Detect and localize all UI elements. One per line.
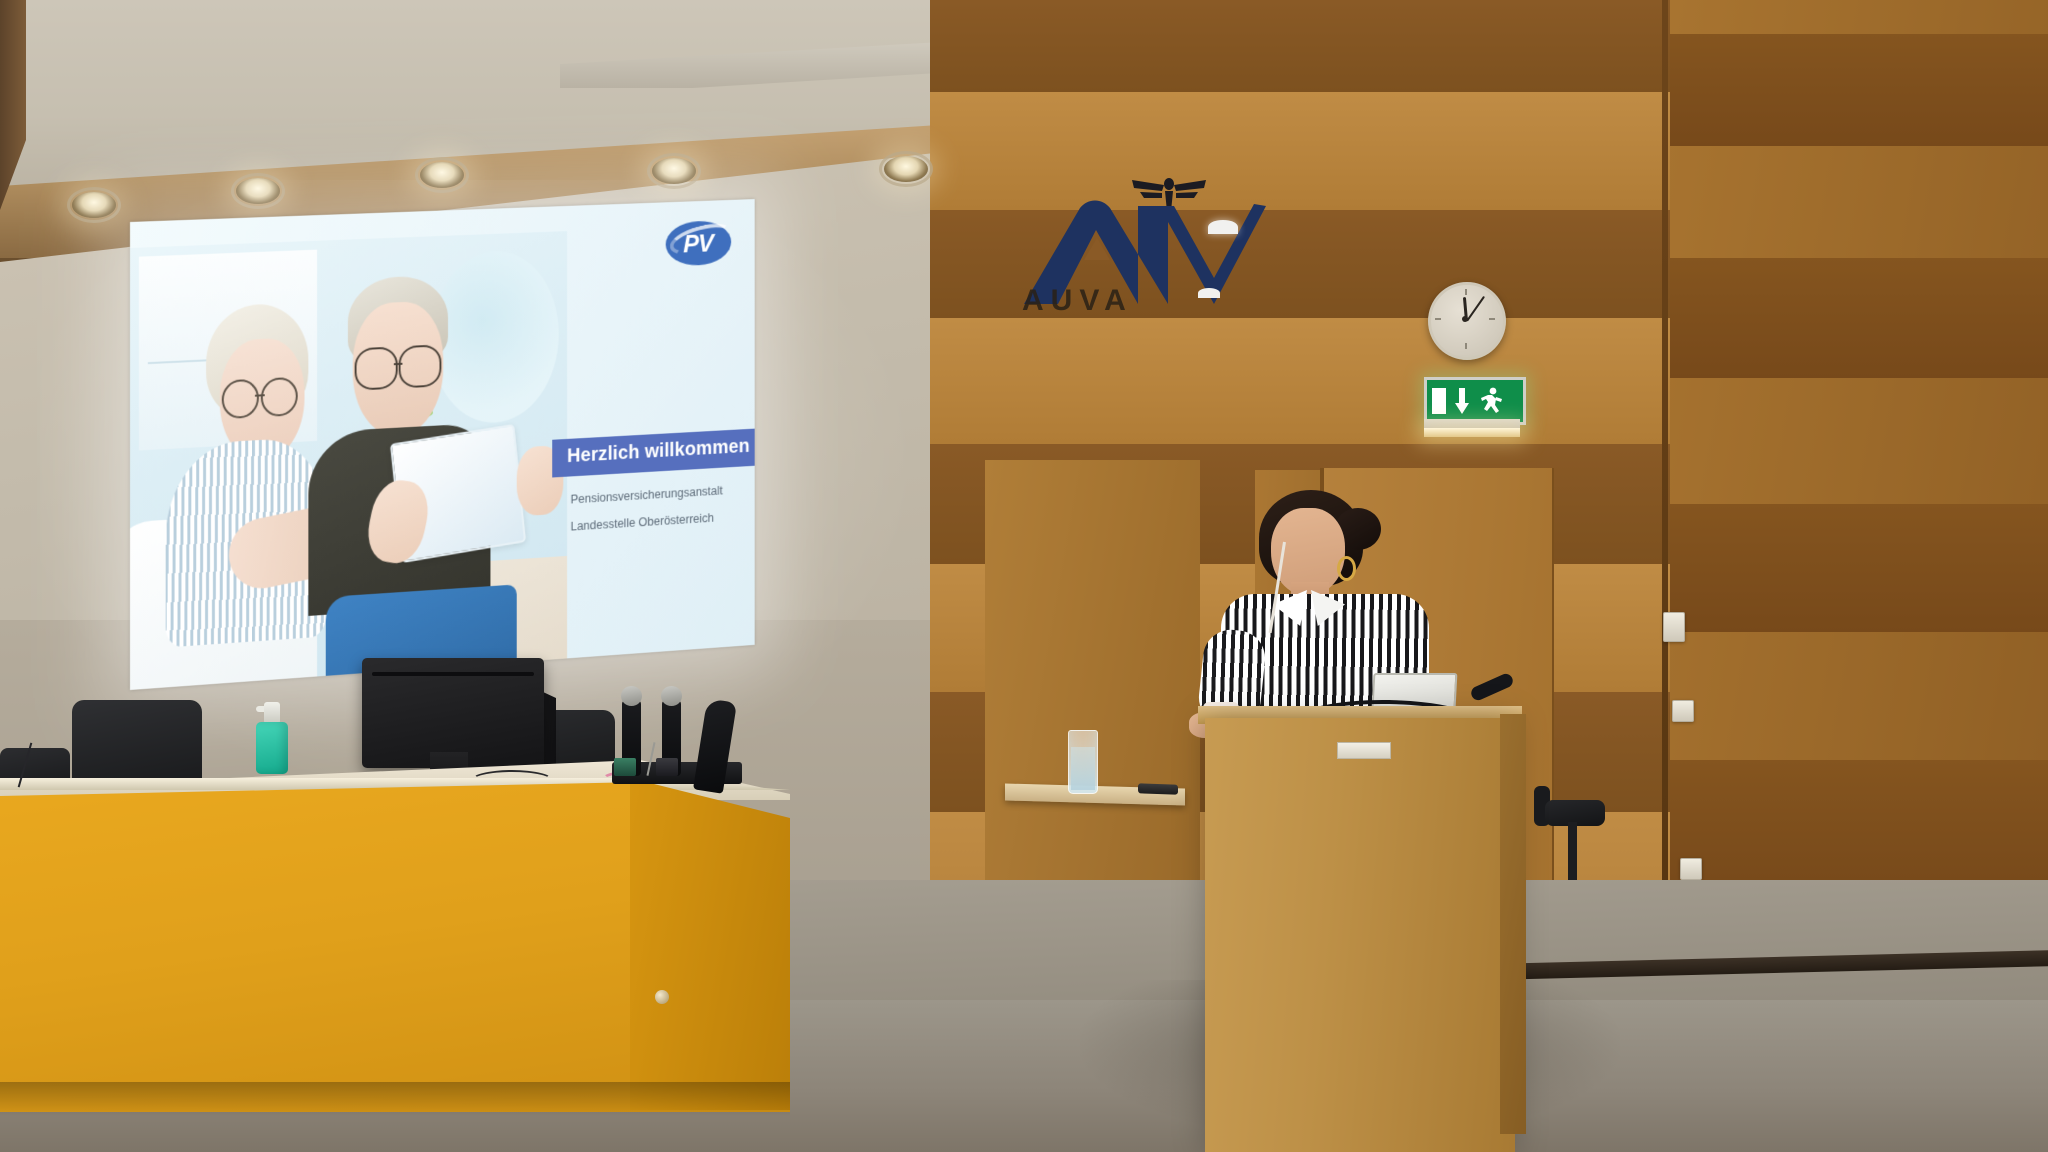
desk-cable: [470, 770, 554, 792]
desk-side-panel: [630, 770, 790, 1110]
remote-control[interactable]: [1138, 783, 1178, 794]
pv-logo: PV: [665, 220, 730, 267]
down-arrow-icon: [1453, 386, 1471, 416]
presenter-earring: [1337, 556, 1356, 581]
clock-tick: [1489, 318, 1495, 320]
dock-indicator: [614, 758, 636, 776]
podium: [1205, 718, 1515, 1152]
podium-name-plate: [1337, 742, 1391, 759]
exit-sign-light-strip: [1424, 428, 1520, 437]
water-level: [1071, 747, 1095, 790]
conference-room-photo: PV Herzlich willkommen Pensionsversicher…: [0, 0, 2048, 1152]
wood-band: [1670, 258, 2048, 378]
wood-band: [1670, 760, 2048, 892]
sanitizer-pump[interactable]: [264, 702, 280, 724]
slide-subtitle-region: Landesstelle Oberösterreich: [570, 511, 713, 533]
slide-subtitle-org: Pensionsversicherungsanstalt: [570, 484, 722, 507]
clock-minute-hand: [1466, 296, 1485, 322]
dock-indicator: [656, 758, 678, 776]
clock-tick: [1465, 289, 1467, 295]
clock-center: [1462, 316, 1468, 322]
ceiling-downlight: [72, 192, 116, 218]
projection-screen: PV Herzlich willkommen Pensionsversicher…: [130, 199, 755, 690]
ceiling-downlight: [652, 158, 696, 184]
emergency-exit-sign: [1424, 377, 1526, 425]
presentation-slide: PV Herzlich willkommen Pensionsversicher…: [130, 199, 755, 690]
wall-clock: [1428, 282, 1506, 360]
water-glass[interactable]: [1068, 730, 1098, 794]
slide-photo: [130, 231, 567, 690]
desk-shadow: [0, 1082, 790, 1116]
ceiling-downlight: [420, 162, 464, 188]
pv-logo-text: PV: [665, 220, 730, 267]
desk-knob[interactable]: [655, 990, 669, 1004]
clock-tick: [1465, 343, 1467, 349]
clock-tick: [1435, 318, 1441, 320]
auva-highlight-lower: [1198, 288, 1220, 298]
chair-left[interactable]: [72, 700, 202, 784]
wall-speaker: [1663, 612, 1685, 642]
wood-band: [1670, 504, 2048, 632]
photo-man-glasses: [355, 344, 442, 387]
wall-panel-shelf-backing: [985, 460, 1200, 880]
ceiling-downlight: [236, 178, 280, 204]
monitor-vent: [372, 672, 534, 676]
wall-socket[interactable]: [1680, 858, 1702, 880]
photo-woman-glasses: [222, 377, 297, 416]
auva-highlight: [1208, 220, 1238, 234]
ceiling-downlight: [884, 156, 928, 182]
exit-sign-bar: [1432, 388, 1446, 414]
running-person-icon: [1479, 386, 1505, 416]
slide-banner-title: Herzlich willkommen: [552, 428, 755, 477]
hand-sanitizer-bottle[interactable]: [256, 722, 288, 774]
light-switch[interactable]: [1672, 700, 1694, 722]
auva-logo: AUVA: [1008, 172, 1298, 322]
podium-side: [1500, 714, 1526, 1134]
auva-logo-text: AUVA: [1022, 284, 1133, 318]
wood-band: [1670, 34, 2048, 146]
